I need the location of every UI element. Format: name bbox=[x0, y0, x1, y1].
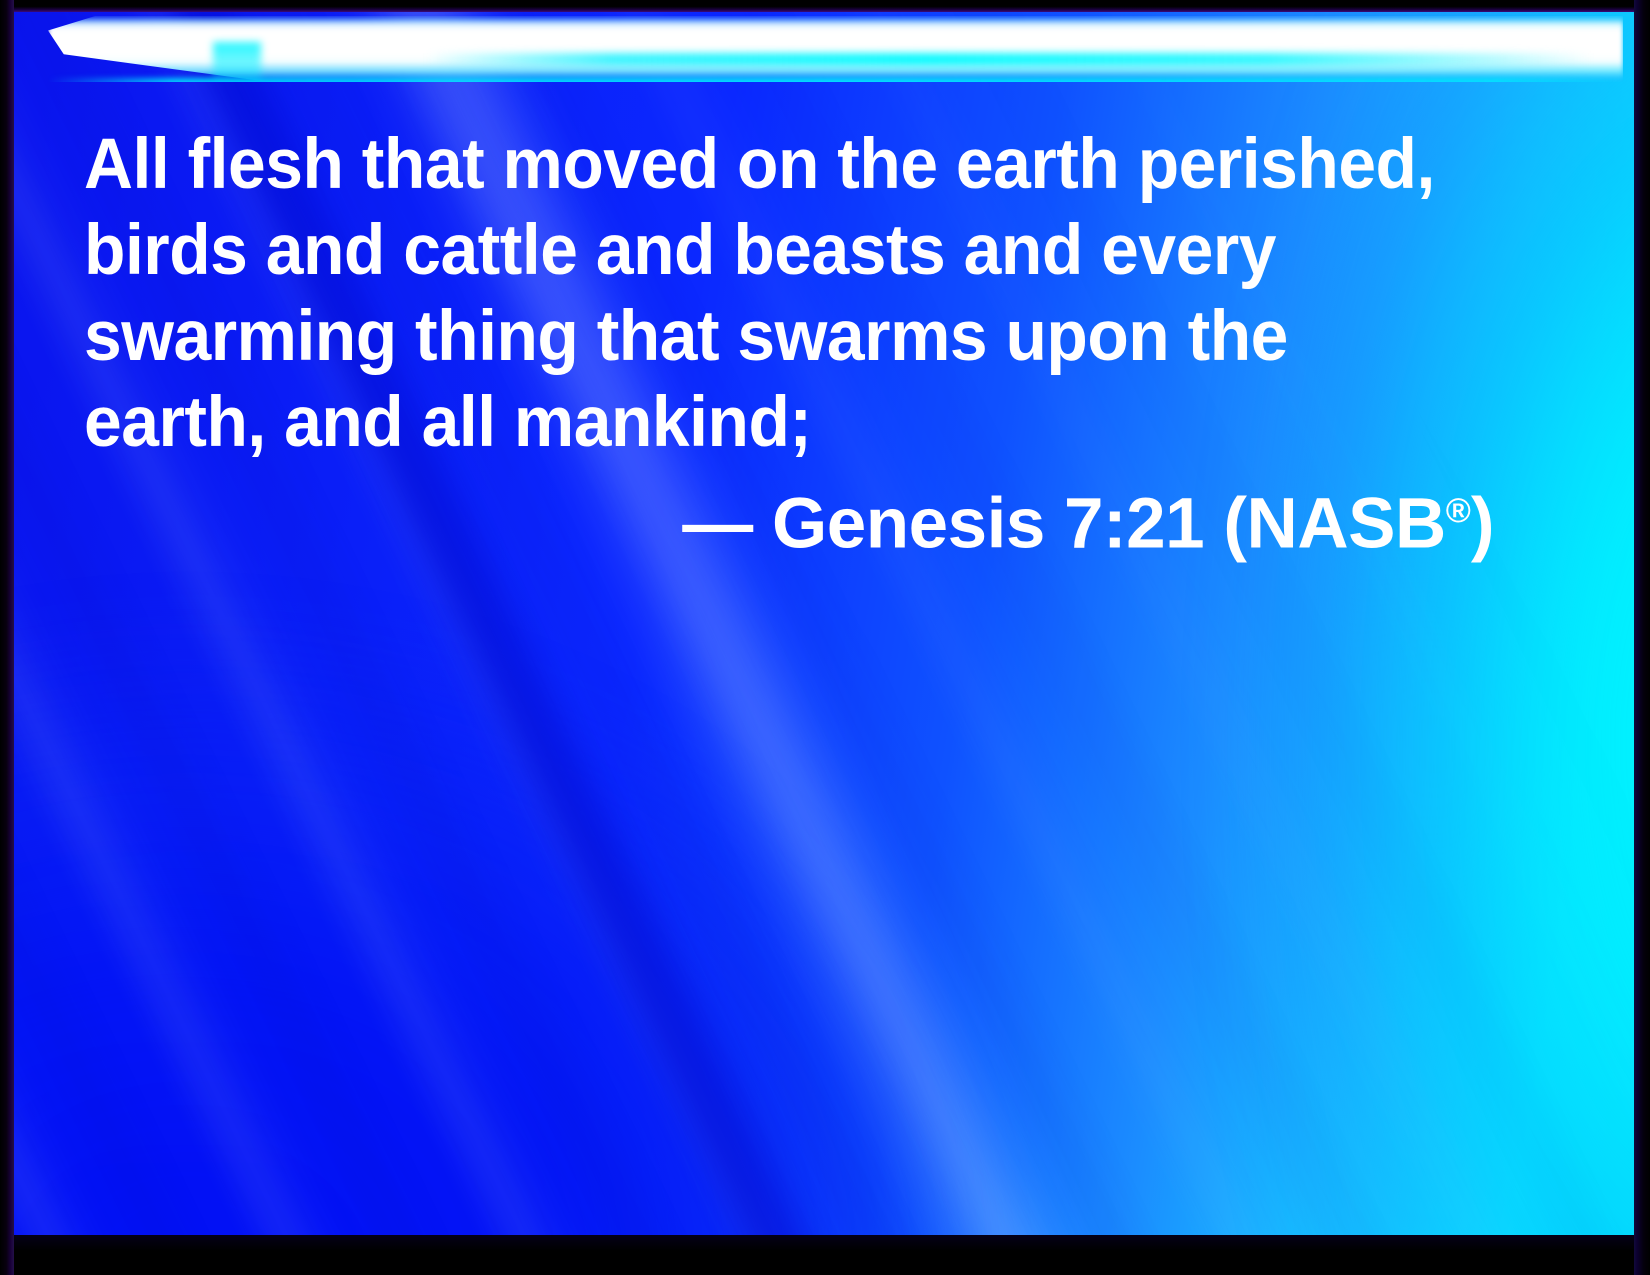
verse-slide: All flesh that moved on the earth perish… bbox=[0, 0, 1650, 1275]
attribution-book: Genesis bbox=[772, 485, 1045, 564]
verse-text-block: All flesh that moved on the earth perish… bbox=[84, 122, 1524, 466]
verse-line-3: swarming thing that swarms upon the bbox=[84, 294, 1459, 380]
glow-bar-white-fill bbox=[48, 16, 1623, 82]
attribution-translation: NASB bbox=[1247, 485, 1446, 564]
verse-line-2: birds and cattle and beasts and every bbox=[84, 208, 1459, 294]
glow-bar-bottom-edge bbox=[48, 78, 1623, 82]
glow-bar-cyan-streak bbox=[426, 53, 1592, 66]
attribution-reference: 7:21 bbox=[1064, 485, 1204, 564]
verse-line-4: earth, and all mankind; bbox=[84, 380, 1459, 466]
verse-line-1: All flesh that moved on the earth perish… bbox=[84, 122, 1459, 208]
verse-attribution: — Genesis 7:21 (NASB®) bbox=[84, 468, 1494, 568]
attribution-open-paren: ( bbox=[1223, 485, 1246, 564]
attribution-close-paren: ) bbox=[1471, 485, 1494, 564]
glow-bar-notch bbox=[213, 42, 261, 82]
registered-trademark-icon: ® bbox=[1446, 492, 1471, 530]
attribution-em-dash: — bbox=[682, 485, 753, 564]
frame-border-bottom bbox=[0, 1235, 1650, 1275]
top-glow-bar bbox=[48, 16, 1623, 82]
